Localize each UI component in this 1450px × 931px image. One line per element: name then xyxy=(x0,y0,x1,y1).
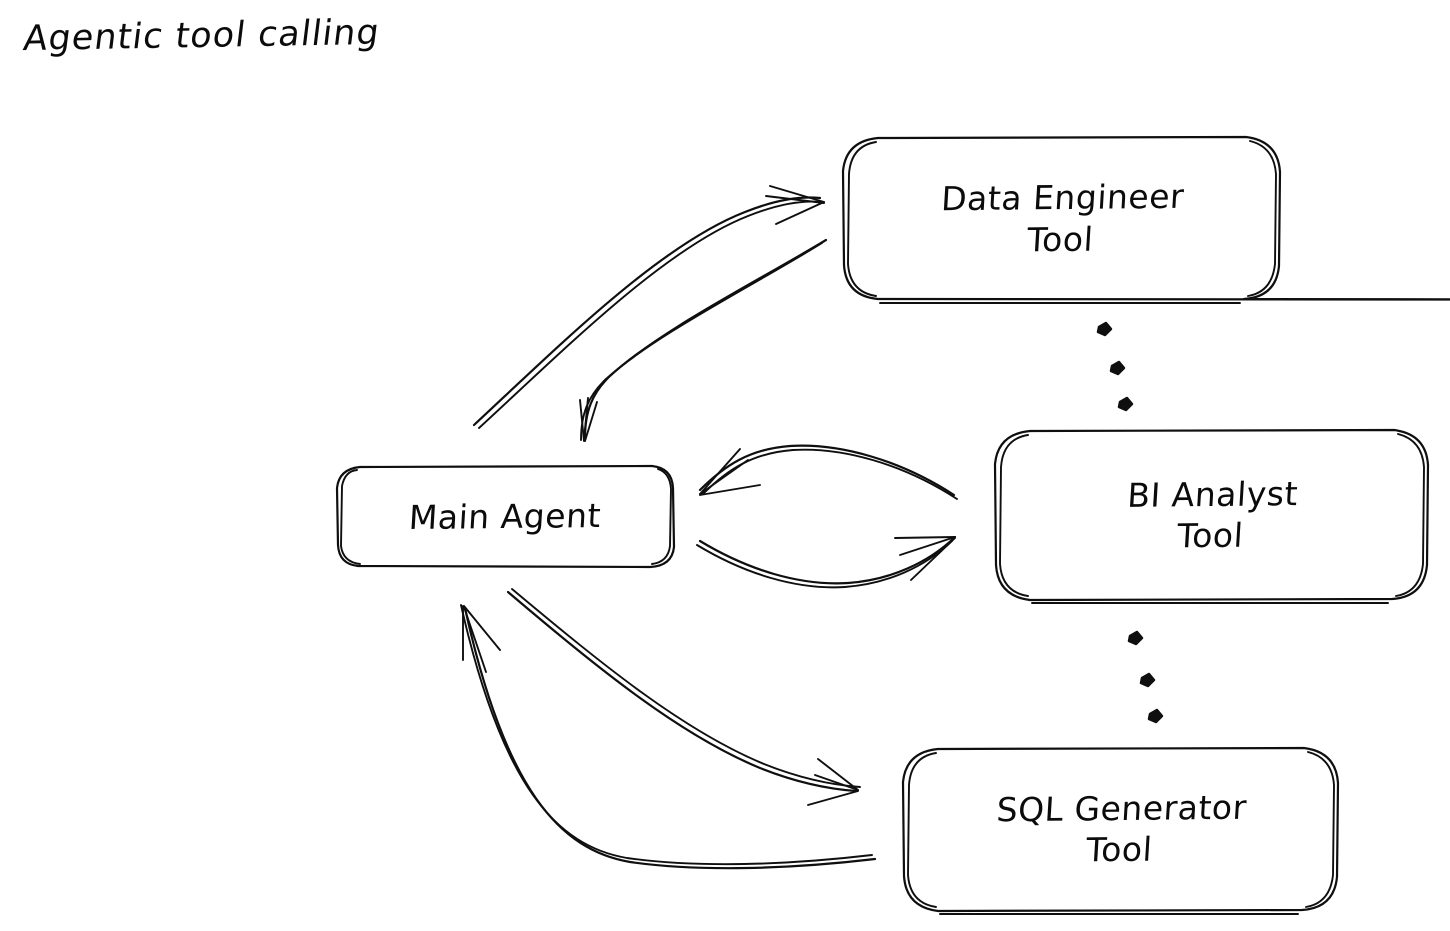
edge-bi-analyst-to-sql-generator xyxy=(1129,632,1162,722)
node-shape-bi-analyst[interactable] xyxy=(995,430,1428,603)
diagram-strokes xyxy=(0,0,1450,931)
edge-sql-generator-to-main xyxy=(461,605,875,868)
edge-data-engineer-to-bi-analyst xyxy=(1098,323,1132,410)
node-shape-data-engineer[interactable] xyxy=(843,137,1450,303)
edge-main-to-bi-analyst xyxy=(697,537,955,587)
diagram-canvas: Agentic tool calling xyxy=(0,0,1450,931)
node-shape-sql-generator[interactable] xyxy=(903,748,1338,914)
edge-main-to-data-engineer xyxy=(474,186,824,428)
edge-bi-analyst-to-main xyxy=(700,446,957,499)
edge-main-to-sql-generator xyxy=(508,589,860,805)
edge-data-engineer-to-main xyxy=(580,240,826,441)
node-shape-main-agent[interactable] xyxy=(337,466,674,567)
